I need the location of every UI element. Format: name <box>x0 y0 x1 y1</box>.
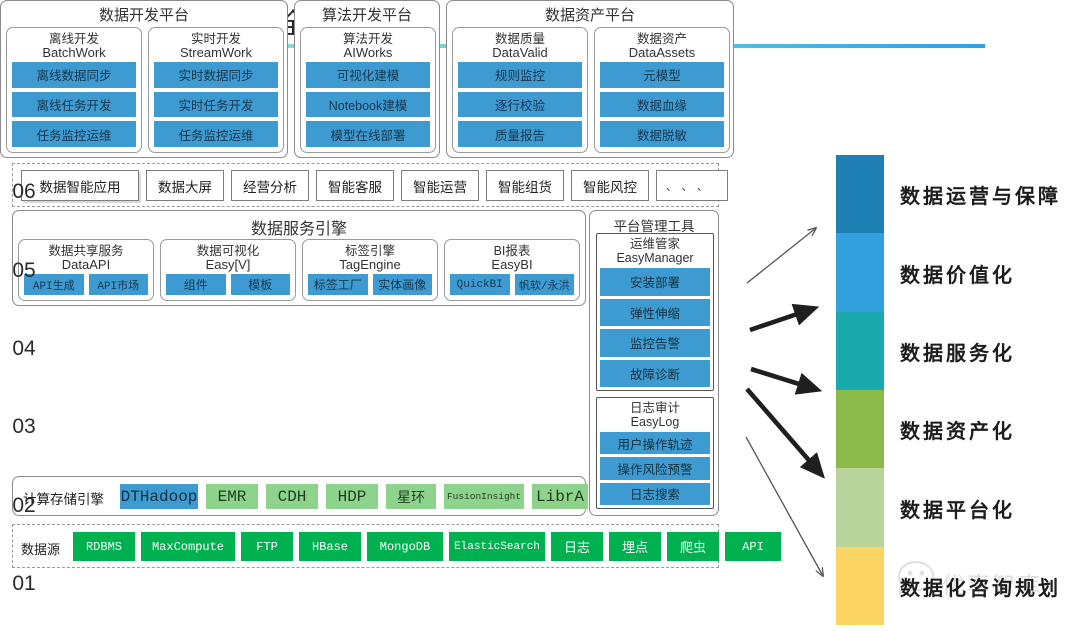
dev-tag-0-0-2[interactable]: 任务监控运维 <box>12 121 136 147</box>
development-platform-row: 数据开发平台离线开发BatchWork离线数据同步离线任务开发任务监控运维实时开… <box>0 0 574 160</box>
arrow-to-level-05 <box>750 309 812 330</box>
compute-engine-tag-2[interactable]: CDH <box>266 484 318 509</box>
dev-card-head-0-0: 离线开发BatchWork <box>7 28 141 60</box>
platform-management-tools-title: 平台管理工具 <box>590 215 718 235</box>
mgmt-item-0-0[interactable]: 安装部署 <box>600 268 710 296</box>
ladder-number-03: 03 <box>0 415 48 439</box>
data-source-label: 数据源 <box>21 539 60 558</box>
compute-engine-tag-6[interactable]: LibrA <box>532 484 588 509</box>
dev-platform-title-2: 数据资产平台 <box>447 4 733 25</box>
ladder-label-05: 数据价值化 <box>900 259 1015 288</box>
dev-card-2-0[interactable]: 数据质量DataValid规则监控逐行校验质量报告 <box>452 27 588 153</box>
ladder-label-04: 数据服务化 <box>900 337 1015 366</box>
dev-card-tags-0-0: 离线数据同步离线任务开发任务监控运维 <box>12 62 136 147</box>
ladder-band-02[interactable] <box>836 468 884 546</box>
mgmt-card-head-0: 运维管家EasyManager <box>597 234 713 265</box>
mgmt-item-1-2[interactable]: 日志搜索 <box>600 483 710 505</box>
compute-engine-tag-4[interactable]: 星环 <box>386 484 436 509</box>
data-source-tag-1[interactable]: MaxCompute <box>141 532 235 561</box>
dev-card-1-0[interactable]: 算法开发AIWorks可视化建模Notebook建模模型在线部署 <box>300 27 436 153</box>
app-box-6[interactable]: 智能风控 <box>571 170 649 201</box>
service-tag-1-0[interactable]: 组件 <box>166 274 226 295</box>
service-card-head-2: 标签引擎TagEngine <box>303 240 437 272</box>
ladder-label-03: 数据资产化 <box>900 415 1015 444</box>
ladder-number-01: 01 <box>0 572 48 596</box>
dev-card-head-2-0: 数据质量DataValid <box>453 28 587 60</box>
ladder-band-05[interactable] <box>836 233 884 311</box>
ladder-number-02: 02 <box>0 494 48 518</box>
dev-card-tags-0-1: 实时数据同步实时任务开发任务监控运维 <box>154 62 278 147</box>
dev-tag-2-0-2[interactable]: 质量报告 <box>458 121 582 147</box>
service-tag-0-1[interactable]: API市场 <box>89 274 149 295</box>
service-card-head-1: 数据可视化Easy[V] <box>161 240 295 272</box>
compute-storage-engine-panel: 计算存储引擎 DTHadoopEMRCDHHDP星环FusionInsightL… <box>12 476 586 516</box>
mgmt-card-0[interactable]: 运维管家EasyManager安装部署弹性伸缩监控告警故障诊断 <box>596 233 714 391</box>
dev-tag-2-0-0[interactable]: 规则监控 <box>458 62 582 88</box>
ladder-label-02: 数据平台化 <box>900 494 1015 523</box>
service-tag-2-1[interactable]: 实体画像 <box>373 274 433 295</box>
dev-card-tags-2-0: 规则监控逐行校验质量报告 <box>458 62 582 147</box>
data-source-tag-6[interactable]: 日志 <box>551 532 603 561</box>
dev-tag-0-1-2[interactable]: 任务监控运维 <box>154 121 278 147</box>
service-tag-1-1[interactable]: 模板 <box>231 274 291 295</box>
dev-tag-2-1-0[interactable]: 元模型 <box>600 62 724 88</box>
app-box-2[interactable]: 经营分析 <box>231 170 309 201</box>
data-service-engine-title: 数据服务引擎 <box>13 215 585 239</box>
data-source-container: 数据源 RDBMSMaxComputeFTPHBaseMongoDBElasti… <box>12 524 719 568</box>
dev-platform-title-0: 数据开发平台 <box>1 4 287 25</box>
app-box-3[interactable]: 智能客服 <box>316 170 394 201</box>
arrow-to-level-03 <box>747 389 820 473</box>
app-box-5[interactable]: 智能组货 <box>486 170 564 201</box>
service-card-2[interactable]: 标签引擎TagEngine标签工厂实体画像 <box>302 239 438 301</box>
dev-platform-0: 数据开发平台离线开发BatchWork离线数据同步离线任务开发任务监控运维实时开… <box>0 0 288 158</box>
ladder-number-04: 04 <box>0 337 48 361</box>
ladder-label-01: 数据化咨询规划 <box>900 572 1061 601</box>
dev-tag-0-1-0[interactable]: 实时数据同步 <box>154 62 278 88</box>
ladder-band-06[interactable] <box>836 155 884 233</box>
arrow-to-level-06 <box>747 228 816 283</box>
dev-card-tags-2-1: 元模型数据血缘数据脱敏 <box>600 62 724 147</box>
mgmt-card-list-1: 用户操作轨迹操作风险预警日志搜索 <box>600 432 710 505</box>
data-source-tag-5[interactable]: ElasticSearch <box>449 532 545 561</box>
dev-tag-1-0-1[interactable]: Notebook建模 <box>306 92 430 118</box>
compute-engine-tag-1[interactable]: EMR <box>206 484 258 509</box>
service-tag-3-1[interactable]: 帆软/永洪 <box>515 274 575 295</box>
dev-card-2-1[interactable]: 数据资产DataAssets元模型数据血缘数据脱敏 <box>594 27 730 153</box>
mgmt-item-1-0[interactable]: 用户操作轨迹 <box>600 432 710 454</box>
dev-tag-1-0-0[interactable]: 可视化建模 <box>306 62 430 88</box>
mgmt-card-head-1: 日志审计EasyLog <box>597 398 713 429</box>
ladder-band-01[interactable] <box>836 547 884 625</box>
data-source-tag-0[interactable]: RDBMS <box>73 532 135 561</box>
dev-card-head-1-0: 算法开发AIWorks <box>301 28 435 60</box>
service-card-tags-1: 组件模板 <box>166 274 290 295</box>
compute-engine-tag-3[interactable]: HDP <box>326 484 378 509</box>
ladder-band-03[interactable] <box>836 390 884 468</box>
service-card-tags-3: QuickBI帆软/永洪 <box>450 274 574 295</box>
dev-platform-title-1: 算法开发平台 <box>295 4 439 25</box>
dev-card-head-0-1: 实时开发StreamWork <box>149 28 283 60</box>
data-source-tag-3[interactable]: HBase <box>299 532 361 561</box>
dev-platform-1: 算法开发平台算法开发AIWorks可视化建模Notebook建模模型在线部署 <box>294 0 440 158</box>
service-card-head-3: BI报表EasyBI <box>445 240 579 272</box>
ladder-band-04[interactable] <box>836 312 884 390</box>
dev-tag-0-1-1[interactable]: 实时任务开发 <box>154 92 278 118</box>
dev-card-tags-1-0: 可视化建模Notebook建模模型在线部署 <box>306 62 430 147</box>
ladder-number-05: 05 <box>0 259 48 283</box>
dev-card-head-2-1: 数据资产DataAssets <box>595 28 729 60</box>
data-source-tag-7[interactable]: 埋点 <box>609 532 661 561</box>
dev-tag-2-1-2[interactable]: 数据脱敏 <box>600 121 724 147</box>
app-box-4[interactable]: 智能运营 <box>401 170 479 201</box>
data-source-tag-9[interactable]: API <box>725 532 781 561</box>
compute-engine-tag-5[interactable]: FusionInsight <box>444 484 524 509</box>
mgmt-item-0-2[interactable]: 监控告警 <box>600 329 710 357</box>
dev-platform-2: 数据资产平台数据质量DataValid规则监控逐行校验质量报告数据资产DataA… <box>446 0 734 158</box>
compute-engine-tag-0[interactable]: DTHadoop <box>120 484 198 509</box>
data-service-engine-panel: 数据服务引擎 数据共享服务DataAPIAPI生成API市场数据可视化Easy[… <box>12 210 586 306</box>
ladder-label-06: 数据运营与保障 <box>900 180 1061 209</box>
application-layer-container: 数据智能应用数据大屏经营分析智能客服智能运营智能组货智能风控、、、 <box>12 163 719 207</box>
app-box-1[interactable]: 数据大屏 <box>146 170 224 201</box>
app-box-7[interactable]: 、、、 <box>656 170 728 201</box>
service-card-tags-2: 标签工厂实体画像 <box>308 274 432 295</box>
dev-card-0-0[interactable]: 离线开发BatchWork离线数据同步离线任务开发任务监控运维 <box>6 27 142 153</box>
mgmt-card-list-0: 安装部署弹性伸缩监控告警故障诊断 <box>600 268 710 387</box>
mgmt-card-1[interactable]: 日志审计EasyLog用户操作轨迹操作风险预警日志搜索 <box>596 397 714 509</box>
data-source-tag-8[interactable]: 爬虫 <box>667 532 719 561</box>
data-source-tag-2[interactable]: FTP <box>241 532 293 561</box>
dev-tag-2-0-1[interactable]: 逐行校验 <box>458 92 582 118</box>
ladder-number-06: 06 <box>0 180 48 204</box>
service-tag-3-0[interactable]: QuickBI <box>450 274 510 295</box>
service-card-1[interactable]: 数据可视化Easy[V]组件模板 <box>160 239 296 301</box>
dev-tag-0-0-1[interactable]: 离线任务开发 <box>12 92 136 118</box>
data-source-tag-4[interactable]: MongoDB <box>367 532 443 561</box>
arrow-to-level-04 <box>751 369 815 389</box>
mgmt-item-1-1[interactable]: 操作风险预警 <box>600 457 710 479</box>
dev-tag-2-1-1[interactable]: 数据血缘 <box>600 92 724 118</box>
service-card-3[interactable]: BI报表EasyBIQuickBI帆软/永洪 <box>444 239 580 301</box>
platform-management-tools-panel: 平台管理工具 运维管家EasyManager安装部署弹性伸缩监控告警故障诊断日志… <box>589 210 719 516</box>
dev-tag-1-0-2[interactable]: 模型在线部署 <box>306 121 430 147</box>
dev-tag-0-0-0[interactable]: 离线数据同步 <box>12 62 136 88</box>
service-tag-2-0[interactable]: 标签工厂 <box>308 274 368 295</box>
mgmt-item-0-3[interactable]: 故障诊断 <box>600 360 710 388</box>
mgmt-item-0-1[interactable]: 弹性伸缩 <box>600 299 710 327</box>
dev-card-0-1[interactable]: 实时开发StreamWork实时数据同步实时任务开发任务监控运维 <box>148 27 284 153</box>
